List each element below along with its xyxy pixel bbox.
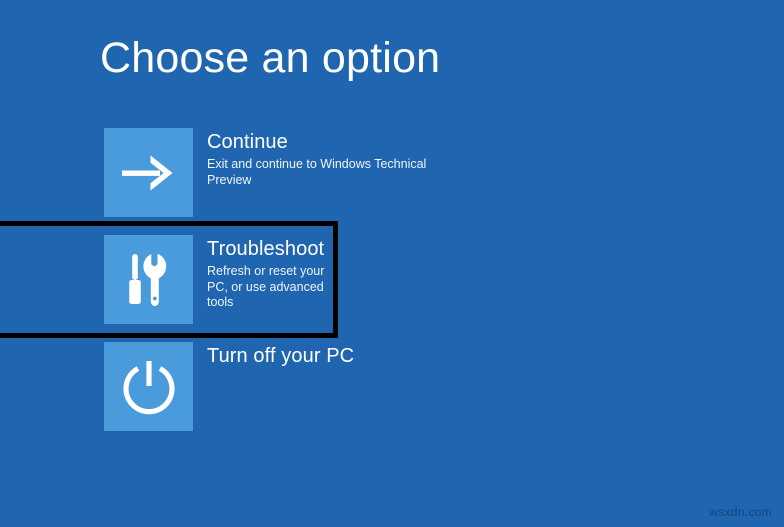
options-list: Continue Exit and continue to Windows Te… xyxy=(0,119,784,440)
option-troubleshoot[interactable]: Troubleshoot Refresh or reset your PC, o… xyxy=(0,226,333,333)
option-continue-title: Continue xyxy=(207,130,445,154)
power-icon xyxy=(120,358,178,416)
option-continue-text: Continue Exit and continue to Windows Te… xyxy=(207,128,445,188)
option-turn-off-your-pc-title: Turn off your PC xyxy=(207,344,354,368)
option-turn-off-your-pc[interactable]: Turn off your PC xyxy=(0,333,784,440)
screwdriver-wrench-icon xyxy=(124,252,174,308)
option-turn-off-your-pc-tile xyxy=(104,342,193,431)
page-title: Choose an option xyxy=(100,35,440,82)
arrow-right-icon xyxy=(120,150,178,196)
option-troubleshoot-text: Troubleshoot Refresh or reset your PC, o… xyxy=(207,235,333,311)
option-troubleshoot-description: Refresh or reset your PC, or use advance… xyxy=(207,264,333,311)
option-troubleshoot-title: Troubleshoot xyxy=(207,237,333,261)
option-troubleshoot-tile xyxy=(104,235,193,324)
option-continue-tile xyxy=(104,128,193,217)
recovery-choose-option-screen: Choose an option Continue Exit and conti… xyxy=(0,0,784,527)
watermark: wsxdn.com xyxy=(709,505,772,519)
option-continue-description: Exit and continue to Windows Technical P… xyxy=(207,157,445,188)
option-continue[interactable]: Continue Exit and continue to Windows Te… xyxy=(0,119,784,226)
option-turn-off-your-pc-text: Turn off your PC xyxy=(207,342,354,368)
